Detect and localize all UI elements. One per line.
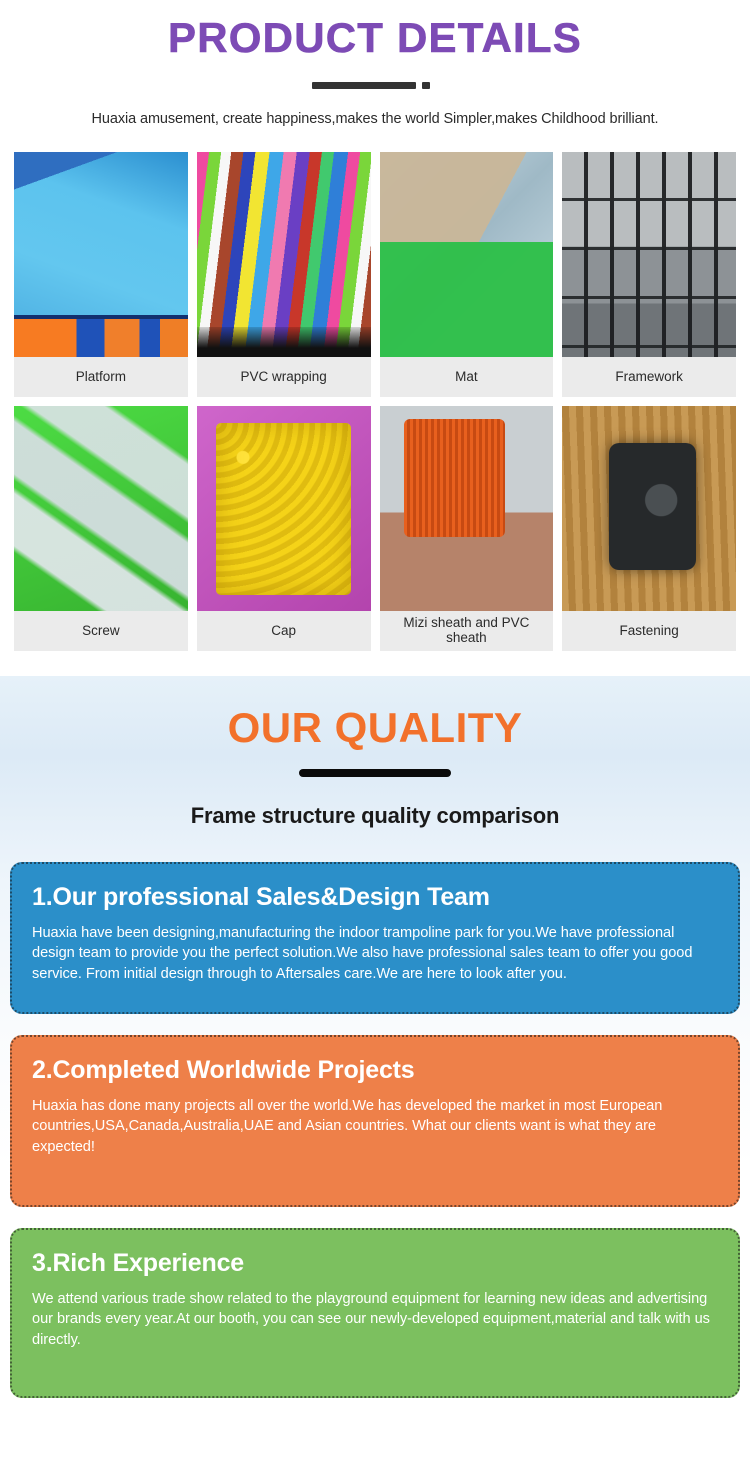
quality-card-body: Huaxia have been designing,manufacturing…	[32, 923, 718, 983]
product-card-cap[interactable]: Cap	[197, 406, 371, 651]
tagline-text: Huaxia amusement, create happiness,makes…	[0, 111, 750, 127]
framework-photo	[562, 152, 736, 357]
quality-card-heading: 2.Completed Worldwide Projects	[32, 1055, 718, 1085]
title-divider	[312, 82, 438, 89]
product-card-platform[interactable]: Platform	[14, 152, 188, 397]
mat-photo	[380, 152, 554, 357]
product-details-section: PRODUCT DETAILS Huaxia amusement, create…	[0, 0, 750, 676]
page-title: PRODUCT DETAILS	[0, 14, 750, 62]
quality-subtitle: Frame structure quality comparison	[0, 803, 750, 829]
quality-card-list: 1.Our professional Sales&Design Team Hua…	[10, 862, 740, 1398]
divider-dot	[422, 82, 430, 89]
fastening-photo	[562, 406, 736, 611]
product-details-page: PRODUCT DETAILS Huaxia amusement, create…	[0, 0, 750, 1469]
product-card-mat[interactable]: Mat	[380, 152, 554, 397]
quality-card-worldwide-projects: 2.Completed Worldwide Projects Huaxia ha…	[10, 1035, 740, 1207]
quality-card-heading: 1.Our professional Sales&Design Team	[32, 882, 718, 912]
product-card-fastening[interactable]: Fastening	[562, 406, 736, 651]
product-label: Cap	[197, 611, 371, 651]
product-grid: Platform PVC wrapping Mat Framework Scre…	[14, 152, 736, 651]
product-card-sheath[interactable]: Mizi sheath and PVC sheath	[380, 406, 554, 651]
our-quality-section: OUR QUALITY Frame structure quality comp…	[0, 676, 750, 1469]
quality-card-body: We attend various trade show related to …	[32, 1289, 718, 1349]
product-card-pvc-wrapping[interactable]: PVC wrapping	[197, 152, 371, 397]
product-label: Mat	[380, 357, 554, 397]
product-label: Platform	[14, 357, 188, 397]
quality-card-rich-experience: 3.Rich Experience We attend various trad…	[10, 1228, 740, 1398]
product-label: PVC wrapping	[197, 357, 371, 397]
quality-title-divider	[299, 769, 451, 777]
quality-card-sales-design-team: 1.Our professional Sales&Design Team Hua…	[10, 862, 740, 1014]
product-label: Screw	[14, 611, 188, 651]
product-label: Fastening	[562, 611, 736, 651]
quality-card-body: Huaxia has done many projects all over t…	[32, 1096, 718, 1156]
product-label: Mizi sheath and PVC sheath	[380, 611, 554, 651]
cap-photo	[197, 406, 371, 611]
divider-bar	[312, 82, 416, 89]
pvc-wrapping-photo	[197, 152, 371, 357]
product-card-screw[interactable]: Screw	[14, 406, 188, 651]
quality-title: OUR QUALITY	[0, 704, 750, 752]
screw-photo	[14, 406, 188, 611]
quality-card-heading: 3.Rich Experience	[32, 1248, 718, 1278]
sheath-photo	[380, 406, 554, 611]
product-label: Framework	[562, 357, 736, 397]
product-card-framework[interactable]: Framework	[562, 152, 736, 397]
platform-photo	[14, 152, 188, 357]
